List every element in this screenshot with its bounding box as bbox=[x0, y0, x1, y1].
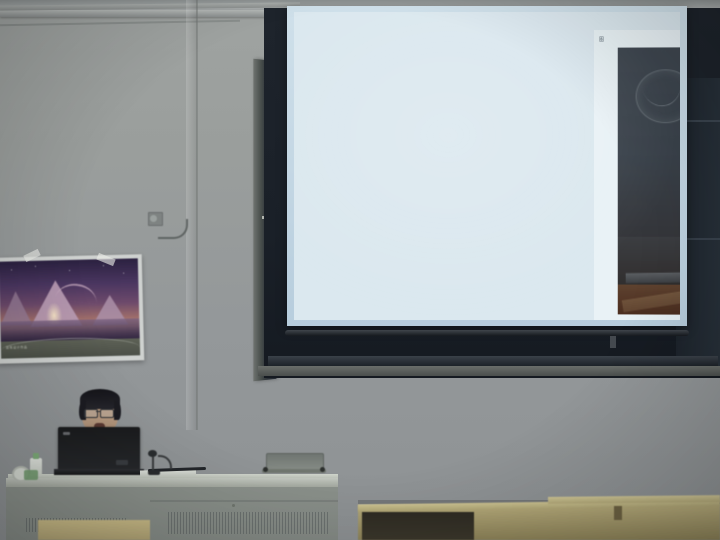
blackboard-seam-upper bbox=[684, 120, 720, 122]
podium-roof bbox=[626, 269, 680, 283]
wall-bracket-inner bbox=[150, 215, 157, 222]
glasses-bridge bbox=[96, 411, 100, 412]
lectern-knob bbox=[232, 504, 235, 507]
control-monitor-knob-left bbox=[263, 467, 268, 472]
lectern-vent-right bbox=[168, 512, 330, 534]
laptop-hinge bbox=[54, 469, 144, 475]
control-monitor-base bbox=[262, 469, 326, 473]
foreground-desk-left bbox=[38, 520, 150, 540]
laptop[interactable] bbox=[58, 427, 140, 477]
chalk-tray bbox=[258, 366, 720, 376]
control-monitor[interactable] bbox=[266, 453, 322, 473]
night-office-building-photo bbox=[618, 46, 680, 315]
wall-poster: 建筑设计作品 bbox=[0, 254, 144, 364]
lectern-panel-seam bbox=[150, 500, 338, 502]
slide-label-top-left: 图 bbox=[599, 36, 605, 43]
presentation-slide: 图 建筑学院 bbox=[594, 30, 680, 320]
lecture-hall-screenshot: 建筑设计作品 图 建筑学院 bbox=[0, 0, 720, 540]
blackboard-seam-lower bbox=[684, 238, 720, 240]
screen-roller-stem bbox=[610, 336, 616, 348]
water-bottle-cap bbox=[33, 453, 39, 459]
control-monitor-knob-right bbox=[320, 467, 325, 472]
green-desk-object bbox=[24, 470, 38, 480]
laptop-badge bbox=[116, 460, 128, 465]
screen-roller-bar bbox=[285, 330, 689, 336]
wall-column-edge bbox=[196, 0, 198, 430]
lectern-top-edge bbox=[6, 478, 338, 487]
microphone-head[interactable] bbox=[148, 450, 157, 457]
poster-caption-text: 建筑设计作品 bbox=[6, 345, 28, 350]
student-bench-front-panel bbox=[362, 512, 474, 540]
street-level-glow bbox=[618, 285, 680, 316]
laptop-logo bbox=[63, 432, 70, 435]
student-bench-leg bbox=[614, 506, 622, 520]
projection-screen-surface: 图 建筑学院 bbox=[294, 12, 680, 320]
poster-artwork bbox=[0, 258, 140, 341]
building-podium bbox=[618, 237, 680, 316]
glasses-right-lens bbox=[100, 409, 114, 418]
microphone-base bbox=[148, 470, 160, 475]
